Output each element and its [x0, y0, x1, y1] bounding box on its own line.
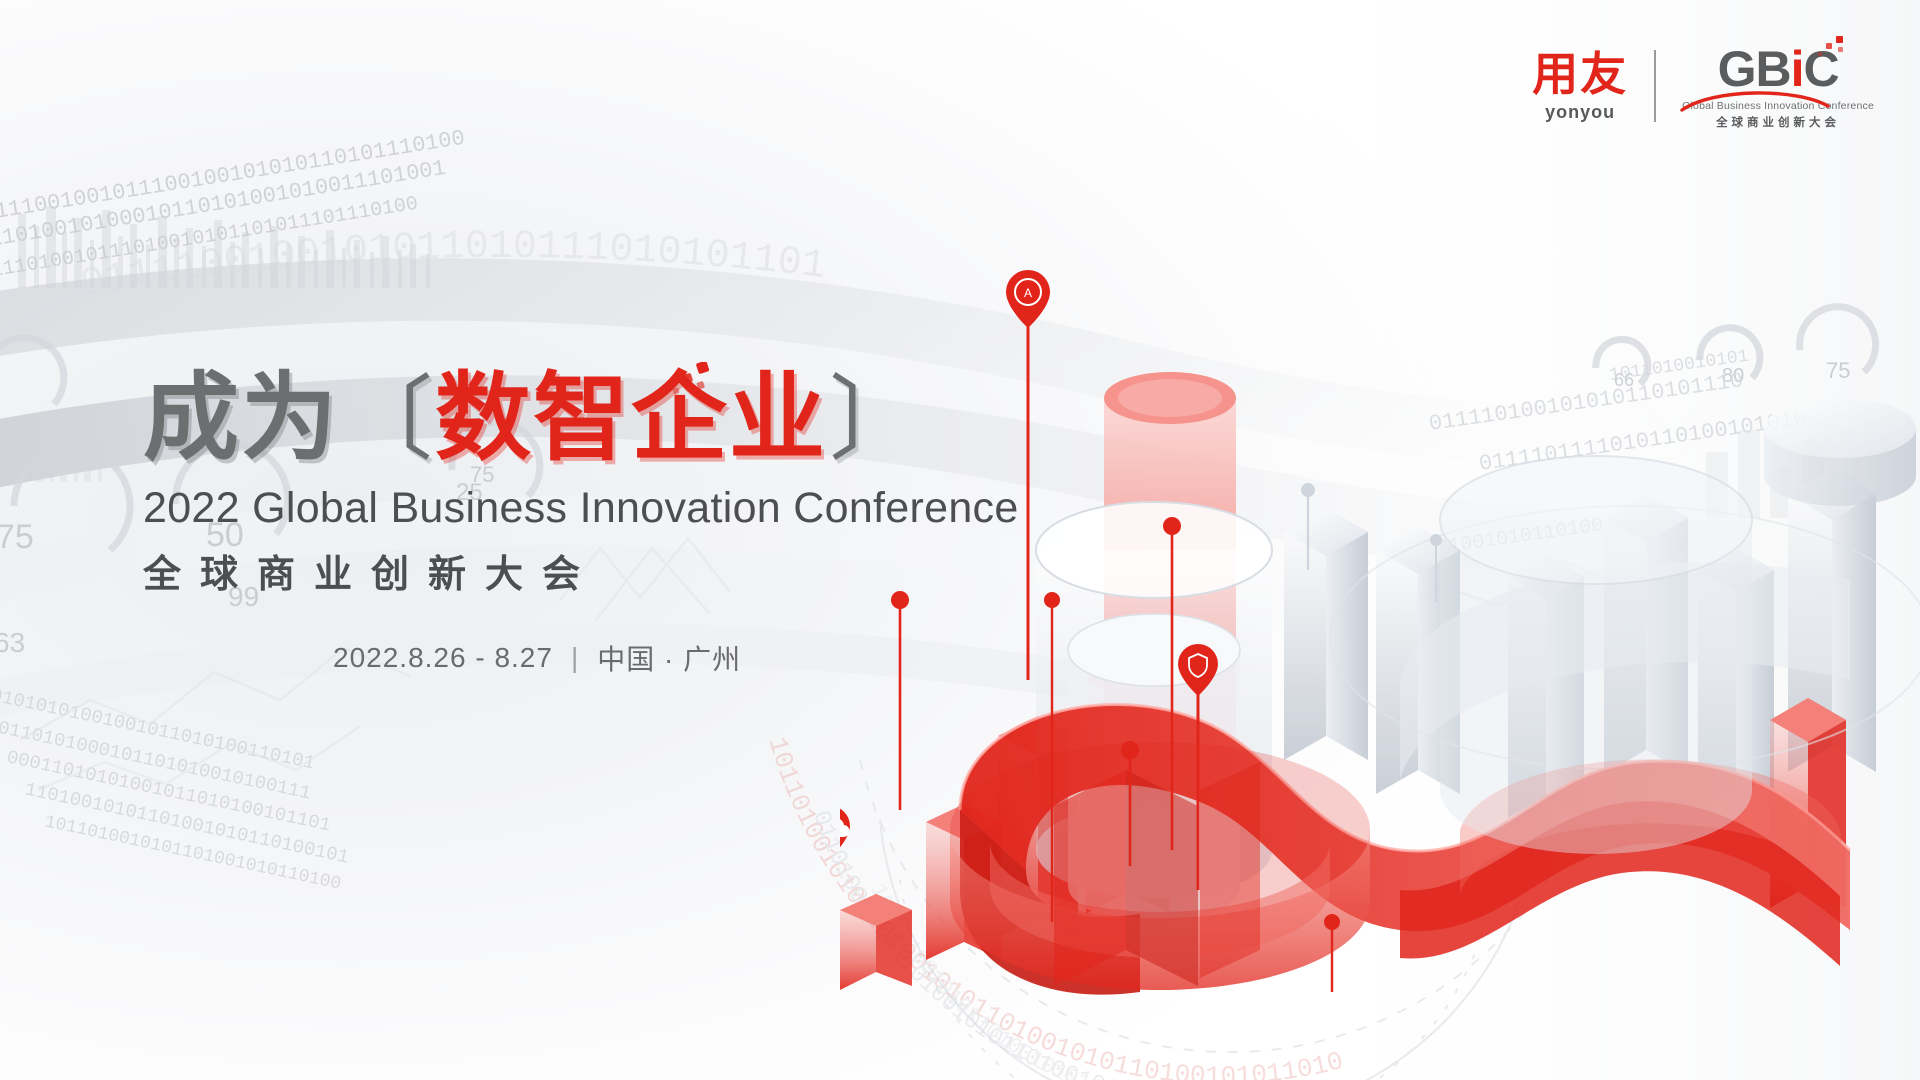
gbic-swoosh-icon — [1680, 86, 1830, 112]
gbic-dots-icon — [1814, 36, 1848, 62]
isometric-illustration: A — [840, 250, 1920, 1010]
event-location: 中国 · 广州 — [597, 638, 741, 678]
sparkle-icon — [667, 362, 713, 406]
headline-prefix: 成为 — [143, 370, 339, 466]
red-glass-panels — [1054, 762, 1260, 986]
gbic-logo[interactable]: GBiC Global Business Innovation Conferen… — [1682, 44, 1874, 128]
logo-divider — [1654, 50, 1656, 122]
svg-text:75: 75 — [0, 518, 34, 556]
binary-decor-bottom: 01010101001001011010100110101 1011010100… — [0, 684, 351, 894]
bracket-open: 〔 — [341, 374, 433, 466]
conference-banner: 75 50 99 25 75 63 75 80 66 0111100100101… — [0, 0, 1920, 1080]
yonyou-logo[interactable]: 用友 yonyou — [1532, 51, 1628, 121]
logo-lockup[interactable]: 用友 yonyou GBiC Global Business Innovatio… — [1532, 44, 1874, 128]
yonyou-logo-cn: 用友 — [1532, 51, 1628, 97]
grey-disc-right — [1764, 398, 1916, 506]
svg-text:63: 63 — [0, 627, 25, 658]
yonyou-logo-en: yonyou — [1545, 103, 1615, 121]
meta-divider: | — [571, 642, 579, 674]
headline-emphasis: 数智企业 — [435, 370, 827, 466]
glass-cylinder-right — [1440, 456, 1752, 854]
svg-text:A: A — [1024, 286, 1032, 300]
gbic-tagline-cn: 全球商业创新大会 — [1716, 117, 1840, 129]
event-date: 2022.8.26 - 8.27 — [333, 642, 553, 674]
